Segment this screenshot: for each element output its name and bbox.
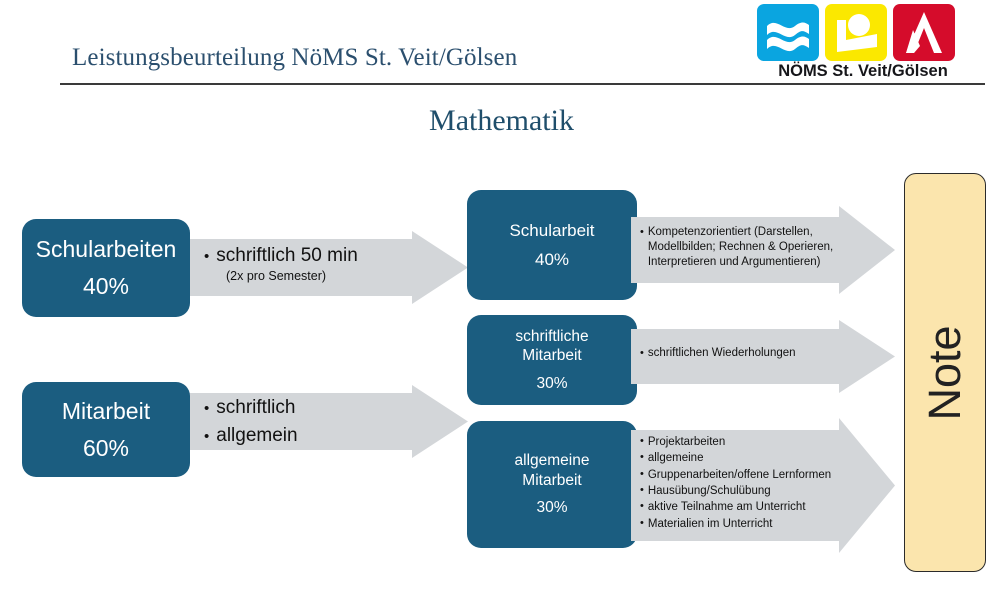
header-divider	[60, 83, 985, 85]
schriftliche-mitarbeit-detail-text: • schriftlichen Wiederholungen	[640, 346, 870, 361]
bullet-icon: •	[204, 249, 209, 264]
box-schularbeiten-percent: 40%	[83, 272, 129, 301]
mitarbeit-arrow: • schriftlich • allgemein	[190, 385, 468, 458]
bullet-icon: •	[640, 346, 644, 360]
box-schriftliche-mitarbeit-label-1: schriftliche	[515, 327, 588, 346]
schularbeit-detail-bullet-1: Kompetenzorientiert (Darstellen, Modellb…	[648, 225, 852, 271]
box-allgemeine-mitarbeit-label-1: allgemeine	[515, 451, 590, 470]
school-logo: NÖMS St. Veit/Gölsen	[757, 4, 969, 82]
schularbeiten-arrow: • schriftlich 50 min (2x pro Semester)	[190, 231, 468, 304]
page-title: Mathematik	[0, 104, 1003, 138]
box-schriftliche-mitarbeit: schriftliche Mitarbeit 30%	[467, 315, 637, 405]
bullet-icon: •	[204, 401, 209, 416]
box-allgemeine-mitarbeit-label-2: Mitarbeit	[522, 471, 581, 490]
schriftliche-mitarbeit-detail-arrow: • schriftlichen Wiederholungen	[631, 320, 895, 393]
bullet-icon: •	[204, 429, 209, 444]
sun-person-icon	[825, 4, 887, 61]
mitarbeit-arrow-text: • schriftlich • allgemein	[204, 394, 434, 449]
allgemeine-detail-bullet-4: Hausübung/Schulübung	[648, 483, 771, 499]
schriftliche-mitarbeit-detail-bullet-1: schriftlichen Wiederholungen	[648, 346, 796, 361]
bullet-icon: •	[640, 434, 644, 448]
mitarbeit-bullet-1: schriftlich	[216, 394, 295, 422]
allgemeine-detail-bullet-5: aktive Teilnahme am Unterricht	[648, 499, 806, 515]
mitarbeit-bullet-2: allgemein	[216, 422, 297, 450]
schularbeiten-bullet-1: schriftlich 50 min	[216, 245, 358, 267]
bullet-icon: •	[640, 225, 644, 239]
box-schriftliche-mitarbeit-label-2: Mitarbeit	[522, 346, 581, 365]
box-schriftliche-mitarbeit-percent: 30%	[536, 374, 567, 393]
box-allgemeine-mitarbeit: allgemeine Mitarbeit 30%	[467, 421, 637, 548]
logo-caption: NÖMS St. Veit/Gölsen	[757, 62, 969, 81]
box-schularbeit: Schularbeit 40%	[467, 190, 637, 300]
box-mitarbeit-label: Mitarbeit	[62, 397, 150, 426]
box-note-result: Note	[904, 173, 986, 572]
schularbeit-detail-arrow: • Kompetenzorientiert (Darstellen, Model…	[631, 206, 895, 294]
box-mitarbeit: Mitarbeit 60%	[22, 382, 190, 477]
allgemeine-mitarbeit-detail-arrow: • Projektarbeiten • allgemeine • Gruppen…	[631, 418, 895, 553]
allgemeine-detail-bullet-1: Projektarbeiten	[648, 434, 725, 450]
box-mitarbeit-percent: 60%	[83, 434, 129, 463]
allgemeine-detail-bullet-6: Materialien im Unterricht	[648, 516, 773, 532]
bullet-icon: •	[640, 483, 644, 497]
allgemeine-mitarbeit-detail-text: • Projektarbeiten • allgemeine • Gruppen…	[640, 434, 870, 532]
schularbeiten-arrow-text: • schriftlich 50 min (2x pro Semester)	[204, 245, 434, 283]
allgemeine-detail-bullet-3: Gruppenarbeiten/offene Lernformen	[648, 467, 831, 483]
schularbeiten-sub-note: (2x pro Semester)	[226, 269, 434, 283]
note-label: Note	[919, 325, 971, 420]
bullet-icon: •	[640, 499, 644, 513]
box-schularbeit-percent: 40%	[535, 249, 569, 270]
box-schularbeit-label: Schularbeit	[509, 220, 594, 241]
box-schularbeiten: Schularbeiten 40%	[22, 219, 190, 317]
schularbeit-detail-text: • Kompetenzorientiert (Darstellen, Model…	[640, 225, 852, 271]
box-allgemeine-mitarbeit-percent: 30%	[536, 498, 567, 517]
allgemeine-detail-bullet-2: allgemeine	[648, 450, 704, 466]
bullet-icon: •	[640, 450, 644, 464]
bullet-icon: •	[640, 467, 644, 481]
logo-tiles	[757, 4, 955, 61]
waves-icon	[757, 4, 819, 61]
header-title: Leistungsbeurteilung NöMS St. Veit/Gölse…	[72, 44, 517, 72]
box-schularbeiten-label: Schularbeiten	[36, 235, 177, 264]
mountain-m-icon	[893, 4, 955, 61]
bullet-icon: •	[640, 516, 644, 530]
